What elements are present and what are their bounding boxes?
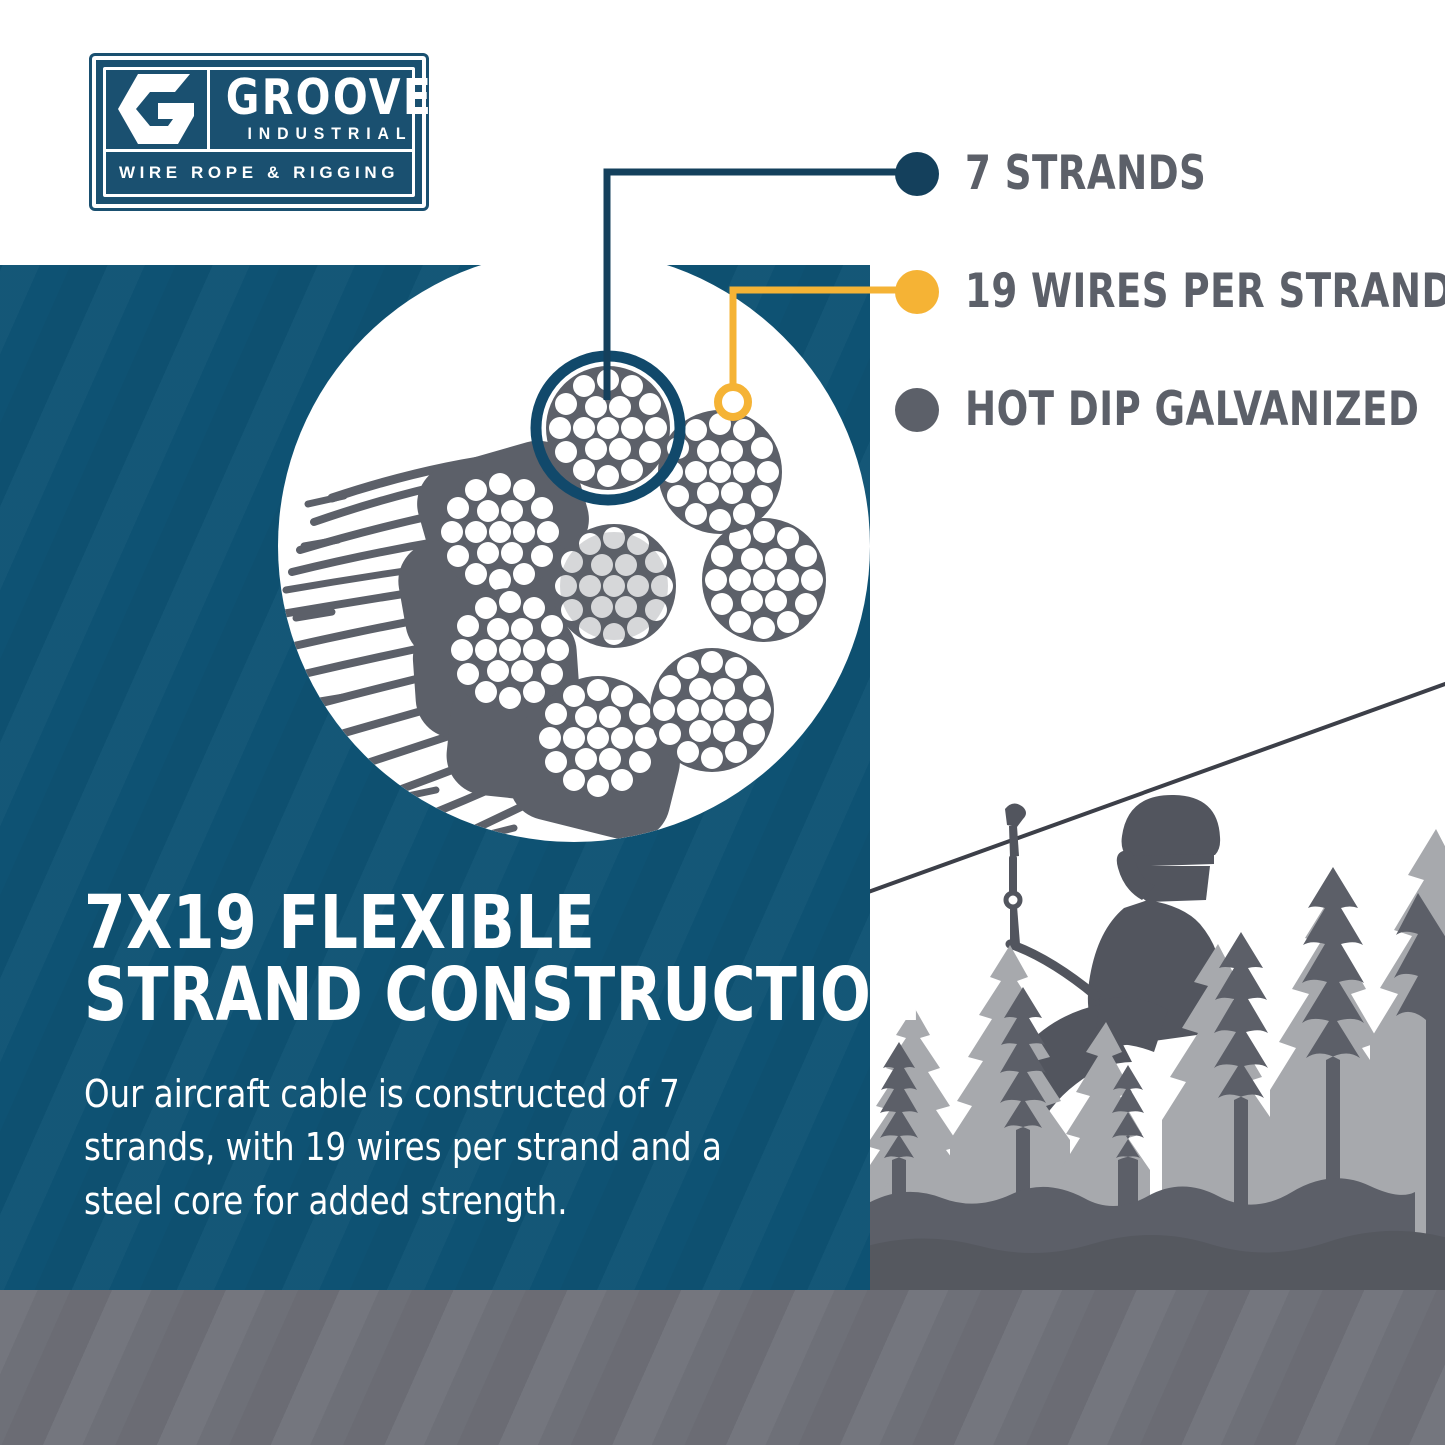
page-title-line-2: STRAND CONSTRUCTION: [84, 960, 768, 1032]
cable-illustration-medallion: [278, 250, 870, 842]
hero-text-block: 7X19 FLEXIBLE STRAND CONSTRUCTION Our ai…: [84, 888, 844, 1229]
callout-label-wires: 19 WIRES PER STRAND: [965, 268, 1445, 315]
hero-body-copy: Our aircraft cable is constructed of 7 s…: [84, 1068, 749, 1230]
callout-dot-wires: [895, 270, 939, 314]
brand-logo[interactable]: GROOVE INDUSTRIAL WIRE ROPE & RIGGING: [92, 56, 426, 208]
bottom-accent-bar: [0, 1290, 1445, 1445]
logo-wordmark: GROOVE INDUSTRIAL: [210, 70, 447, 149]
logo-tagline-band: WIRE ROPE & RIGGING: [106, 152, 412, 194]
callout-label-galvanized: HOT DIP GALVANIZED: [965, 386, 1419, 433]
hexagon-g-logo-icon: [106, 70, 210, 149]
callout-label-strands: 7 STRANDS: [965, 150, 1206, 197]
logo-tagline: WIRE ROPE & RIGGING: [119, 163, 399, 183]
logo-name: GROOVE: [226, 74, 433, 122]
callout-galvanized[interactable]: HOT DIP GALVANIZED: [895, 386, 1445, 433]
logo-top-row: GROOVE INDUSTRIAL: [106, 70, 412, 152]
logo-subtitle: INDUSTRIAL: [247, 125, 412, 144]
page-title-line-1: 7X19 FLEXIBLE: [84, 888, 768, 960]
wire-rope-cross-section: [278, 250, 870, 842]
callout-dot-galvanized: [895, 388, 939, 432]
callout-strands[interactable]: 7 STRANDS: [895, 150, 1239, 197]
logo-frame: GROOVE INDUSTRIAL WIRE ROPE & RIGGING: [103, 67, 415, 197]
infographic-root: GROOVE INDUSTRIAL WIRE ROPE & RIGGING: [0, 0, 1445, 1445]
callout-wires[interactable]: 19 WIRES PER STRAND: [895, 268, 1445, 315]
callout-dot-strands: [895, 152, 939, 196]
bottom-bar-texture: [0, 1290, 1445, 1445]
